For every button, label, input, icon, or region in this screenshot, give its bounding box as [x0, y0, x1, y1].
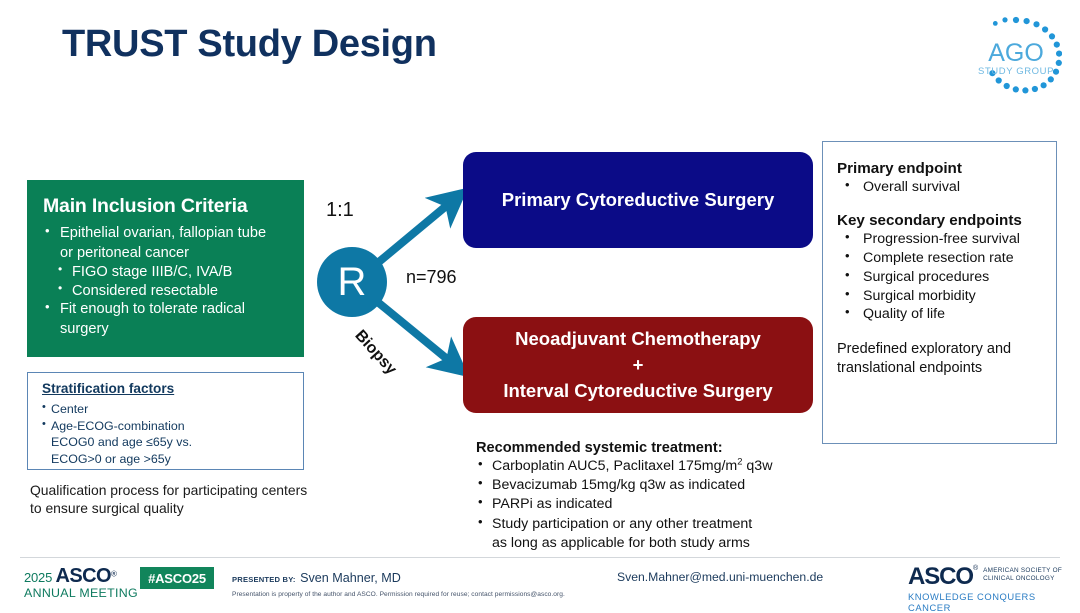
- treatment-text: Study participation or any other treatme…: [492, 516, 752, 532]
- inclusion-heading: Main Inclusion Criteria: [43, 195, 294, 218]
- list-item: ECOG>0 or age >65y: [42, 451, 293, 468]
- ago-study-group-logo: AGO STUDY GROUP: [970, 14, 1062, 94]
- list-item: or peritoneal cancer: [39, 244, 294, 263]
- spacer: [837, 197, 1048, 212]
- treatment-continuation: as long as applicable for both study arm…: [492, 534, 816, 553]
- inclusion-sublist: FIGO stage IIIB/C, IVA/B Considered rese…: [39, 263, 294, 300]
- endpoints-box: Primary endpoint Overall survival Key se…: [822, 141, 1057, 444]
- asco-brand-logo: ASCO ® AMERICAN SOCIETY OF CLINICAL ONCO…: [908, 565, 1080, 613]
- main-inclusion-criteria-box: Main Inclusion Criteria Epithelial ovari…: [27, 180, 304, 357]
- stratification-factors-box: Stratification factors Center Age-ECOG-c…: [27, 372, 304, 470]
- asco-tagline: KNOWLEDGE CONQUERS CANCER: [908, 591, 1080, 613]
- list-item: ECOG0 and age ≤65y vs.: [42, 434, 293, 451]
- list-item: Fit enough to tolerate radical: [39, 300, 294, 319]
- list-item: Surgical procedures: [837, 268, 1048, 287]
- presented-by-row: PRESENTED BY: Sven Mahner, MD: [232, 569, 565, 587]
- arm-label: Primary Cytoreductive Surgery: [502, 189, 774, 211]
- recommended-treatment-heading: Recommended systemic treatment:: [476, 440, 816, 456]
- list-item: PARPi as indicated: [476, 495, 816, 514]
- list-item: Considered resectable: [39, 282, 294, 301]
- exploratory-endpoints-note: Predefined exploratory and translational…: [837, 340, 1048, 378]
- arm-label-line1: Neoadjuvant Chemotherapy: [515, 326, 761, 352]
- footer-divider: [20, 557, 1060, 558]
- primary-endpoint-heading: Primary endpoint: [837, 160, 1048, 177]
- ago-logo-subtitle: STUDY GROUP: [978, 66, 1054, 77]
- biopsy-label: Biopsy: [351, 327, 400, 379]
- hashtag-badge: #ASCO25: [140, 567, 214, 589]
- list-item: Quality of life: [837, 305, 1048, 324]
- slide-canvas: TRUST Study Design: [0, 0, 1080, 608]
- copyright-disclaimer: Presentation is property of the author a…: [232, 591, 565, 598]
- asco-society-line2: CLINICAL ONCOLOGY: [983, 575, 1055, 582]
- recommended-treatment-block: Recommended systemic treatment: Carbopla…: [476, 440, 816, 553]
- asco-wordmark: ASCO: [908, 565, 973, 589]
- primary-endpoint-list: Overall survival: [837, 178, 1048, 197]
- arm-neoadjuvant-chemotherapy: Neoadjuvant Chemotherapy + Interval Cyto…: [463, 317, 813, 413]
- trademark-mark: ®: [973, 565, 978, 572]
- meeting-logo-line2: ANNUAL MEETING: [24, 587, 138, 600]
- list-item: Study participation or any other treatme…: [476, 515, 816, 553]
- list-item: Bevacizumab 15mg/kg q3w as indicated: [476, 476, 816, 495]
- secondary-endpoints-list: Progression-free survival Complete resec…: [837, 230, 1048, 324]
- inclusion-list: Epithelial ovarian, fallopian tube or pe…: [39, 224, 294, 338]
- meeting-year: 2025: [24, 570, 52, 585]
- secondary-endpoints-heading: Key secondary endpoints: [837, 212, 1048, 229]
- list-item: Overall survival: [837, 178, 1048, 197]
- recommended-treatment-list: Carboplatin AUC5, Paclitaxel 175mg/m2 q3…: [476, 457, 816, 553]
- stratification-heading: Stratification factors: [42, 381, 293, 396]
- arm-label-line3: Interval Cytoreductive Surgery: [503, 378, 772, 404]
- presented-by-label: PRESENTED BY:: [232, 575, 296, 584]
- list-item: Surgical morbidity: [837, 287, 1048, 306]
- presented-by-block: PRESENTED BY: Sven Mahner, MD Presentati…: [232, 569, 565, 598]
- asco-annual-meeting-logo: 2025 ASCO® ANNUAL MEETING: [24, 566, 138, 599]
- asco-society-line1: AMERICAN SOCIETY OF: [983, 567, 1062, 574]
- arm-primary-cytoreductive-surgery: Primary Cytoreductive Surgery: [463, 152, 813, 248]
- page-title: TRUST Study Design: [62, 23, 437, 66]
- trademark-mark: ®: [111, 570, 117, 579]
- asco-society-name: AMERICAN SOCIETY OF CLINICAL ONCOLOGY: [983, 567, 1062, 583]
- list-item: FIGO stage IIIB/C, IVA/B: [39, 263, 294, 282]
- ago-logo-text: AGO: [988, 39, 1044, 67]
- list-item: Progression-free survival: [837, 230, 1048, 249]
- randomization-circle: R: [317, 247, 387, 317]
- arm-label-line2: +: [633, 352, 644, 378]
- list-item: Center: [42, 401, 293, 418]
- list-item: surgery: [39, 320, 294, 339]
- list-item: Age-ECOG-combination: [42, 418, 293, 435]
- presenter-name: Sven Mahner, MD: [300, 571, 401, 585]
- stratification-list: Center Age-ECOG-combination ECOG0 and ag…: [42, 401, 293, 467]
- treatment-tail: q3w: [742, 458, 772, 474]
- meeting-logo-line1: 2025 ASCO®: [24, 566, 138, 587]
- qualification-note: Qualification process for participating …: [30, 481, 320, 517]
- randomization-ratio-label: 1:1: [326, 199, 354, 222]
- list-item: Epithelial ovarian, fallopian tube: [39, 224, 294, 243]
- meeting-brand: ASCO: [56, 565, 111, 587]
- asco-brand-row: ASCO ® AMERICAN SOCIETY OF CLINICAL ONCO…: [908, 565, 1080, 589]
- treatment-text: Carboplatin AUC5, Paclitaxel 175mg/m: [492, 458, 737, 474]
- list-item: Carboplatin AUC5, Paclitaxel 175mg/m2 q3…: [476, 457, 816, 476]
- list-item: Complete resection rate: [837, 249, 1048, 268]
- sample-size-label: n=796: [406, 267, 457, 288]
- presenter-email: Sven.Mahner@med.uni-muenchen.de: [617, 570, 823, 584]
